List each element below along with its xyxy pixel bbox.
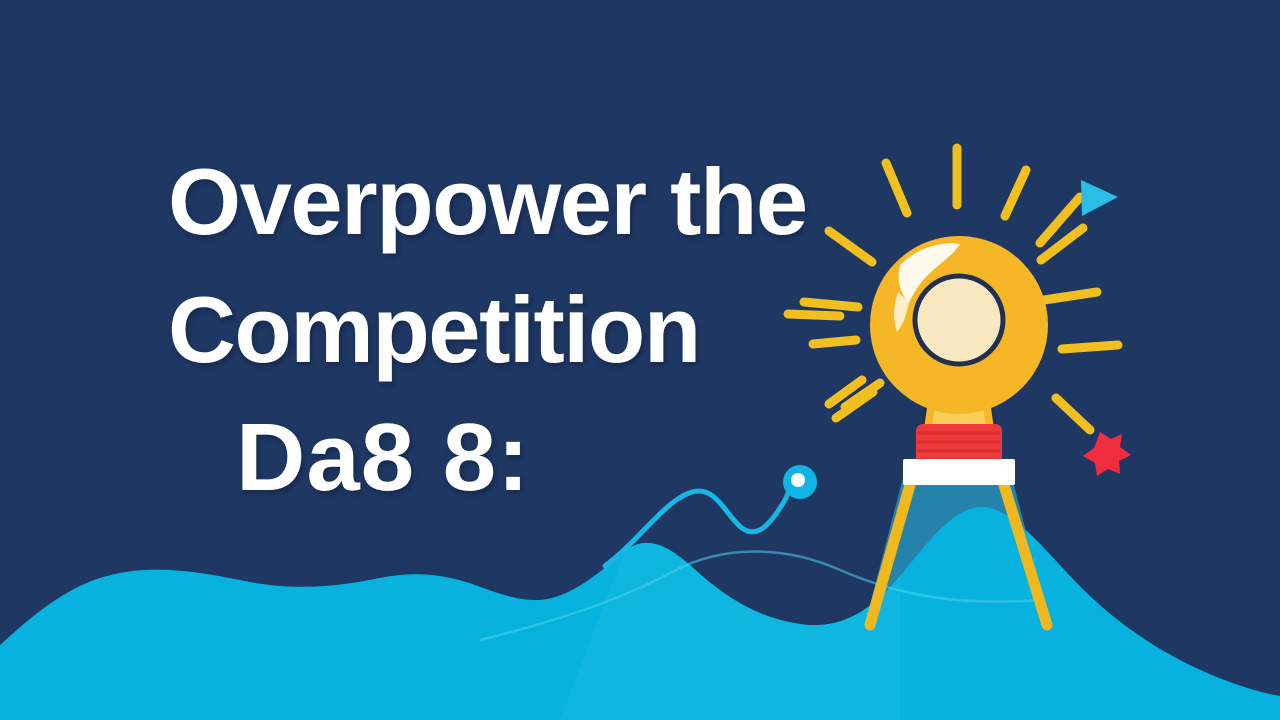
slide-canvas: Overpower the Competition Da8 8: (0, 0, 1280, 720)
background-layer (0, 0, 1280, 720)
